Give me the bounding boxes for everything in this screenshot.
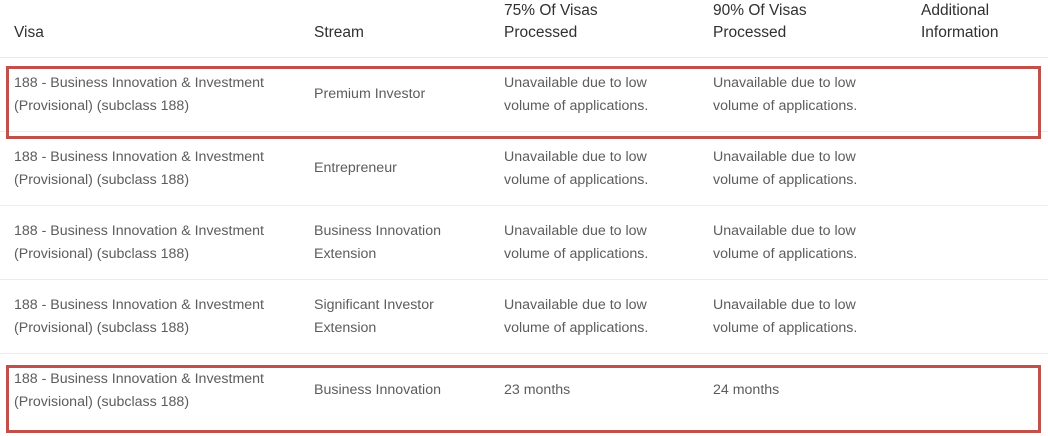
cell-line: Business Innovation [314, 220, 476, 243]
cell-line: Extension [314, 317, 476, 340]
cell-line: Unavailable due to low [504, 294, 685, 317]
column-header-line: Processed [713, 22, 893, 44]
cell-line: Unavailable due to low [713, 294, 893, 317]
cell-additional-information [907, 280, 1048, 354]
cell-line: 188 - Business Innovation & Investment [14, 368, 286, 391]
cell-line: Business Innovation [314, 379, 476, 402]
table-row: 188 - Business Innovation & Investment(P… [0, 280, 1048, 354]
column-header-line: Information [921, 22, 1034, 44]
column-header-additional-information: AdditionalInformation [907, 0, 1048, 58]
visa-processing-times-page: Visa Stream 75% Of VisasProcessed 90% Of… [0, 0, 1048, 436]
column-header-line: Stream [314, 22, 476, 44]
column-header-line: Additional [921, 0, 1034, 22]
cell-75-percent-processed: Unavailable due to lowvolume of applicat… [490, 280, 699, 354]
cell-90-percent-processed: Unavailable due to lowvolume of applicat… [699, 132, 907, 206]
cell-90-percent-processed: Unavailable due to lowvolume of applicat… [699, 58, 907, 132]
cell-line: volume of applications. [504, 317, 685, 340]
cell-line: volume of applications. [504, 243, 685, 266]
cell-additional-information [907, 354, 1048, 428]
column-header-line: 75% Of Visas [504, 0, 685, 22]
cell-line: 24 months [713, 379, 893, 402]
cell-75-percent-processed: 23 months [490, 354, 699, 428]
column-header-stream: Stream [300, 0, 490, 58]
cell-visa: 188 - Business Innovation & Investment(P… [0, 280, 300, 354]
cell-additional-information [907, 58, 1048, 132]
column-header-line: Processed [504, 22, 685, 44]
table-body: 188 - Business Innovation & Investment(P… [0, 58, 1048, 428]
table-row: 188 - Business Innovation & Investment(P… [0, 58, 1048, 132]
cell-stream: Entrepreneur [300, 132, 490, 206]
cell-75-percent-processed: Unavailable due to lowvolume of applicat… [490, 58, 699, 132]
column-header-line: 90% Of Visas [713, 0, 893, 22]
cell-90-percent-processed: 24 months [699, 354, 907, 428]
cell-line: (Provisional) (subclass 188) [14, 95, 286, 118]
column-header-75-percent-processed: 75% Of VisasProcessed [490, 0, 699, 58]
cell-line: volume of applications. [504, 95, 685, 118]
table-header-row: Visa Stream 75% Of VisasProcessed 90% Of… [0, 0, 1048, 58]
cell-line: Unavailable due to low [713, 72, 893, 95]
cell-stream: Significant InvestorExtension [300, 280, 490, 354]
cell-line: Unavailable due to low [504, 72, 685, 95]
cell-line: Premium Investor [314, 83, 476, 106]
column-header-line: Visa [14, 22, 286, 44]
cell-line: Unavailable due to low [713, 220, 893, 243]
cell-90-percent-processed: Unavailable due to lowvolume of applicat… [699, 206, 907, 280]
cell-additional-information [907, 132, 1048, 206]
cell-75-percent-processed: Unavailable due to lowvolume of applicat… [490, 206, 699, 280]
cell-90-percent-processed: Unavailable due to lowvolume of applicat… [699, 280, 907, 354]
cell-line: Unavailable due to low [504, 220, 685, 243]
cell-visa: 188 - Business Innovation & Investment(P… [0, 58, 300, 132]
cell-line: 188 - Business Innovation & Investment [14, 220, 286, 243]
cell-line: Unavailable due to low [713, 146, 893, 169]
cell-line: (Provisional) (subclass 188) [14, 169, 286, 192]
cell-visa: 188 - Business Innovation & Investment(P… [0, 354, 300, 428]
cell-line: volume of applications. [713, 95, 893, 118]
table-header: Visa Stream 75% Of VisasProcessed 90% Of… [0, 0, 1048, 58]
cell-line: 188 - Business Innovation & Investment [14, 146, 286, 169]
cell-line: Extension [314, 243, 476, 266]
cell-visa: 188 - Business Innovation & Investment(P… [0, 132, 300, 206]
cell-line: volume of applications. [504, 169, 685, 192]
table-row: 188 - Business Innovation & Investment(P… [0, 354, 1048, 428]
cell-visa: 188 - Business Innovation & Investment(P… [0, 206, 300, 280]
cell-line: 188 - Business Innovation & Investment [14, 294, 286, 317]
cell-line: volume of applications. [713, 243, 893, 266]
cell-75-percent-processed: Unavailable due to lowvolume of applicat… [490, 132, 699, 206]
cell-line: (Provisional) (subclass 188) [14, 243, 286, 266]
cell-line: Unavailable due to low [504, 146, 685, 169]
cell-line: Significant Investor [314, 294, 476, 317]
cell-line: volume of applications. [713, 169, 893, 192]
cell-line: (Provisional) (subclass 188) [14, 317, 286, 340]
cell-additional-information [907, 206, 1048, 280]
cell-line: volume of applications. [713, 317, 893, 340]
column-header-90-percent-processed: 90% Of VisasProcessed [699, 0, 907, 58]
cell-stream: Business InnovationExtension [300, 206, 490, 280]
cell-stream: Premium Investor [300, 58, 490, 132]
cell-stream: Business Innovation [300, 354, 490, 428]
table-row: 188 - Business Innovation & Investment(P… [0, 132, 1048, 206]
visa-processing-times-table: Visa Stream 75% Of VisasProcessed 90% Of… [0, 0, 1048, 427]
cell-line: 23 months [504, 379, 685, 402]
cell-line: (Provisional) (subclass 188) [14, 391, 286, 414]
table-row: 188 - Business Innovation & Investment(P… [0, 206, 1048, 280]
cell-line: Entrepreneur [314, 157, 476, 180]
cell-line: 188 - Business Innovation & Investment [14, 72, 286, 95]
column-header-visa: Visa [0, 0, 300, 58]
